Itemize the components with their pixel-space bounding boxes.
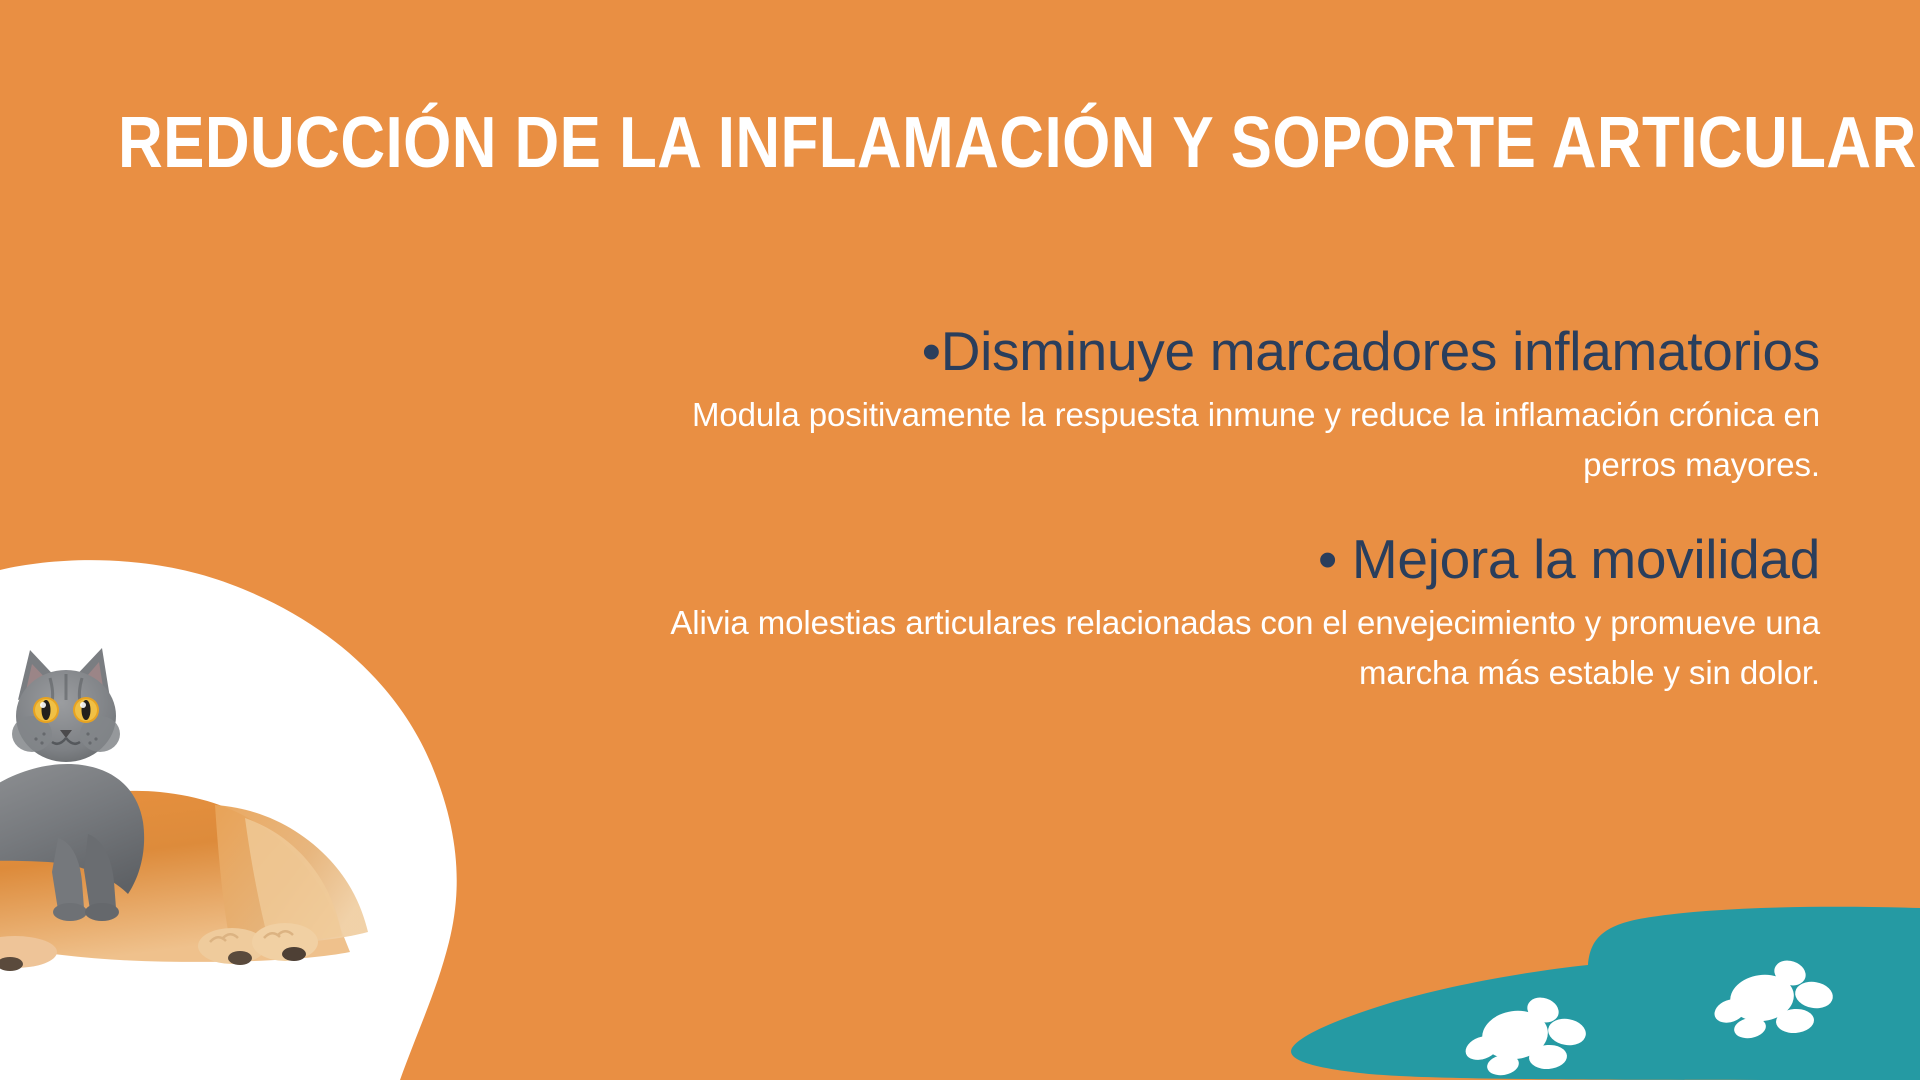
paw-print-left [1462, 994, 1588, 1078]
benefit-description-1: Modula positivamente la respuesta inmune… [660, 390, 1820, 490]
slide-title: REDUCCIÓN DE LA INFLAMACIÓN Y SOPORTE AR… [118, 104, 1580, 182]
teal-organic-blob [1290, 885, 1920, 1080]
white-organic-blob [0, 498, 660, 1080]
slide-canvas: REDUCCIÓN DE LA INFLAMACIÓN Y SOPORTE AR… [0, 0, 1920, 1080]
content-column: •Disminuye marcadores inflamatorios Modu… [660, 320, 1820, 698]
benefit-block-2: • Mejora la movilidad Alivia molestias a… [660, 528, 1820, 698]
paw-print-right [1711, 957, 1835, 1041]
cat-on-dog-photo [0, 560, 470, 1010]
benefit-block-1: •Disminuye marcadores inflamatorios Modu… [660, 320, 1820, 490]
benefit-description-2: Alivia molestias articulares relacionada… [660, 598, 1820, 698]
benefit-headline-1: •Disminuye marcadores inflamatorios [660, 320, 1820, 382]
benefit-headline-2: • Mejora la movilidad [660, 528, 1820, 590]
